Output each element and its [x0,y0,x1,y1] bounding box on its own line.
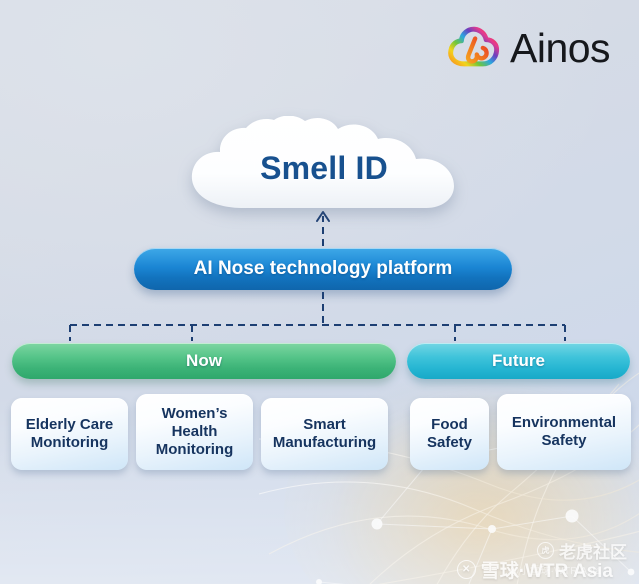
root-node-cloud: Smell ID [186,116,462,212]
rainbow-cloud-nose-icon [446,21,501,76]
card-womens-health-monitoring[interactable]: Women’s Health Monitoring [136,394,253,470]
group-pill-now[interactable]: Now [12,343,396,379]
watermark-xueqiu: ✕ 雪球·WTR Asia [457,556,613,583]
card-smart-manufacturing[interactable]: Smart Manufacturing [261,398,388,470]
card-label: Food Safety [427,416,472,451]
platform-pill[interactable]: AI Nose technology platform [134,248,512,290]
brand-name: Ainos [510,28,610,69]
watermark-tiger-community: 虎 老虎社区 [537,538,627,563]
platform-label: AI Nose technology platform [194,258,453,280]
group-pill-future[interactable]: Future [407,343,630,379]
card-label: Environmental Safety [512,414,616,449]
card-food-safety[interactable]: Food Safety [410,398,489,470]
card-label: Elderly Care Monitoring [26,416,114,451]
group-label-now: Now [186,351,222,371]
watermark-xueqiu-text: 雪球·WTR Asia [481,556,613,583]
tiger-badge-icon: 虎 [537,542,554,559]
watermark-tiger-text: 老虎社区 [559,538,627,563]
card-label: Smart Manufacturing [273,416,376,451]
connector-lines [0,0,639,584]
card-environmental-safety[interactable]: Environmental Safety [497,394,631,470]
ainos-logo: Ainos [446,21,610,76]
xueqiu-badge-icon: ✕ [457,560,476,579]
group-label-future: Future [492,351,545,371]
card-elderly-care-monitoring[interactable]: Elderly Care Monitoring [11,398,128,470]
root-node-label: Smell ID [186,150,462,187]
infographic-canvas: Ainos [0,0,639,584]
watermark-handle: @小雪球·WTR Asia [509,562,601,577]
card-label: Women’s Health Monitoring [156,405,233,458]
